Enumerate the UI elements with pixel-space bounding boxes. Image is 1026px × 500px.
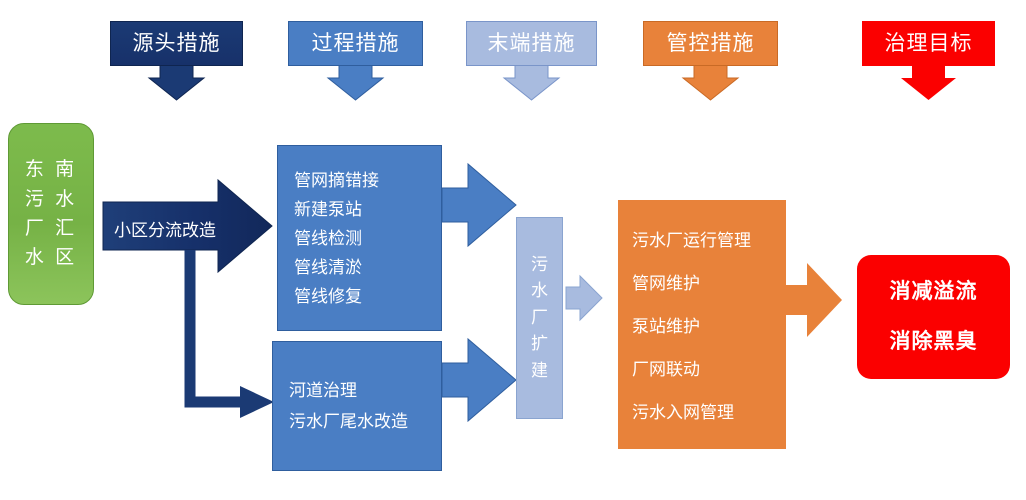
node-treatment-goal-result[interactable]: 消减溢流 消除黑臭	[857, 255, 1010, 379]
down-arrow-goal	[901, 65, 956, 100]
arrow-operation-to-goal	[786, 263, 842, 337]
node-river-measures[interactable]: 河道治理 污水厂尾水改造	[272, 341, 442, 471]
river-item-2: 污水厂尾水改造	[273, 413, 441, 430]
arrow-pipeline-to-plant	[442, 164, 516, 246]
catchment-line-4: 水 区	[25, 243, 77, 272]
header-process-measures-label: 过程措施	[312, 33, 400, 54]
pipeline-item-1: 管网摘错接	[278, 172, 441, 189]
node-pipeline-measures[interactable]: 管网摘错接 新建泵站 管线检测 管线清淤 管线修复	[277, 145, 442, 331]
header-source-measures-label: 源头措施	[133, 33, 221, 54]
pipeline-item-4: 管线清淤	[278, 259, 441, 276]
down-arrow-source	[149, 65, 204, 100]
operation-item-1: 污水厂运行管理	[618, 226, 786, 251]
plant-expansion-char-3: 厂	[531, 305, 548, 331]
header-treatment-goal[interactable]: 治理目标	[862, 21, 995, 66]
node-operation-management[interactable]: 污水厂运行管理 管网维护 泵站维护 厂网联动 污水入网管理	[618, 200, 786, 449]
elbow-connector-to-river	[190, 250, 245, 402]
header-source-measures[interactable]: 源头措施	[110, 21, 243, 66]
river-item-1: 河道治理	[273, 382, 441, 399]
header-terminal-measures[interactable]: 末端措施	[466, 21, 597, 66]
pipeline-item-2: 新建泵站	[278, 201, 441, 218]
down-arrow-terminal	[504, 65, 559, 100]
arrow-river-to-plant	[442, 339, 516, 421]
catchment-line-3: 厂 汇	[25, 214, 77, 243]
catchment-line-2: 污 水	[25, 185, 77, 214]
down-arrow-process	[328, 65, 383, 100]
operation-item-5: 污水入网管理	[618, 398, 786, 423]
header-control-measures-label: 管控措施	[667, 33, 755, 54]
connector-label-district-diversion: 小区分流改造	[114, 216, 216, 241]
diagram-canvas: 源头措施 过程措施 末端措施 管控措施 治理目标 东 南 污 水 厂 汇 水 区…	[0, 0, 1026, 500]
down-arrow-control	[683, 65, 738, 100]
elbow-arrowhead	[240, 386, 274, 418]
plant-expansion-char-5: 建	[531, 358, 548, 384]
arrow-plant-to-operation	[566, 276, 602, 320]
plant-expansion-char-2: 水	[531, 278, 548, 304]
goal-line-1: 消减溢流	[890, 267, 978, 317]
pipeline-item-3: 管线检测	[278, 230, 441, 247]
header-terminal-measures-label: 末端措施	[488, 33, 576, 54]
catchment-line-1: 东 南	[25, 155, 77, 184]
header-treatment-goal-label: 治理目标	[885, 33, 973, 54]
goal-line-2: 消除黑臭	[890, 317, 978, 367]
operation-item-4: 厂网联动	[618, 355, 786, 380]
plant-expansion-char-4: 扩	[531, 331, 548, 357]
node-plant-expansion[interactable]: 污 水 厂 扩 建	[516, 217, 563, 419]
operation-item-3: 泵站维护	[618, 312, 786, 337]
node-catchment-area[interactable]: 东 南 污 水 厂 汇 水 区	[8, 123, 94, 305]
plant-expansion-char-1: 污	[531, 252, 548, 278]
header-control-measures[interactable]: 管控措施	[643, 21, 778, 66]
connector-layer	[0, 0, 1026, 500]
pipeline-item-5: 管线修复	[278, 288, 441, 305]
operation-item-2: 管网维护	[618, 269, 786, 294]
header-process-measures[interactable]: 过程措施	[288, 21, 423, 66]
